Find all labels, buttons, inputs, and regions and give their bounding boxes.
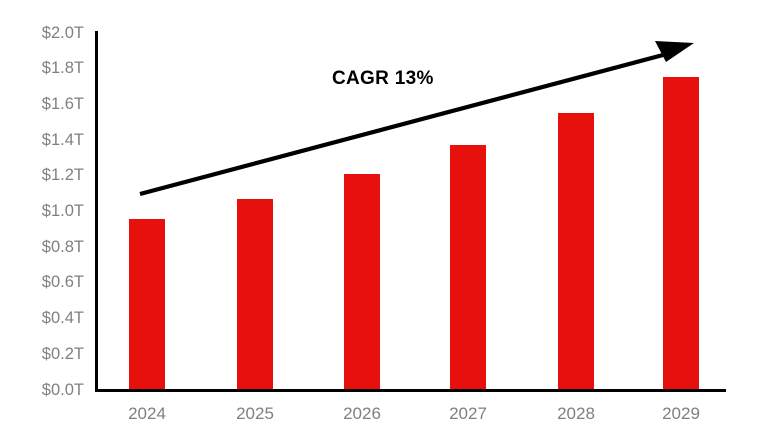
bar-2025 [237,199,273,389]
x-tick-label-2028: 2028 [531,404,621,424]
bar-2024 [129,219,165,389]
x-tick-label-2027: 2027 [423,404,513,424]
bar-2027 [450,145,486,389]
bar-series [0,0,764,438]
bar-2026 [344,174,380,389]
x-tick-label-2029: 2029 [636,404,726,424]
cagr-annotation-label: CAGR 13% [332,68,434,90]
x-axis-tick-labels: 2024 2025 2026 2027 2028 2029 [0,404,764,434]
x-tick-label-2025: 2025 [210,404,300,424]
x-tick-label-2024: 2024 [102,404,192,424]
bar-2029 [663,77,699,389]
x-tick-label-2026: 2026 [317,404,407,424]
bar-2028 [558,113,594,389]
bar-chart: $2.0T $1.8T $1.6T $1.4T $1.2T $1.0T $0.8… [0,0,764,438]
